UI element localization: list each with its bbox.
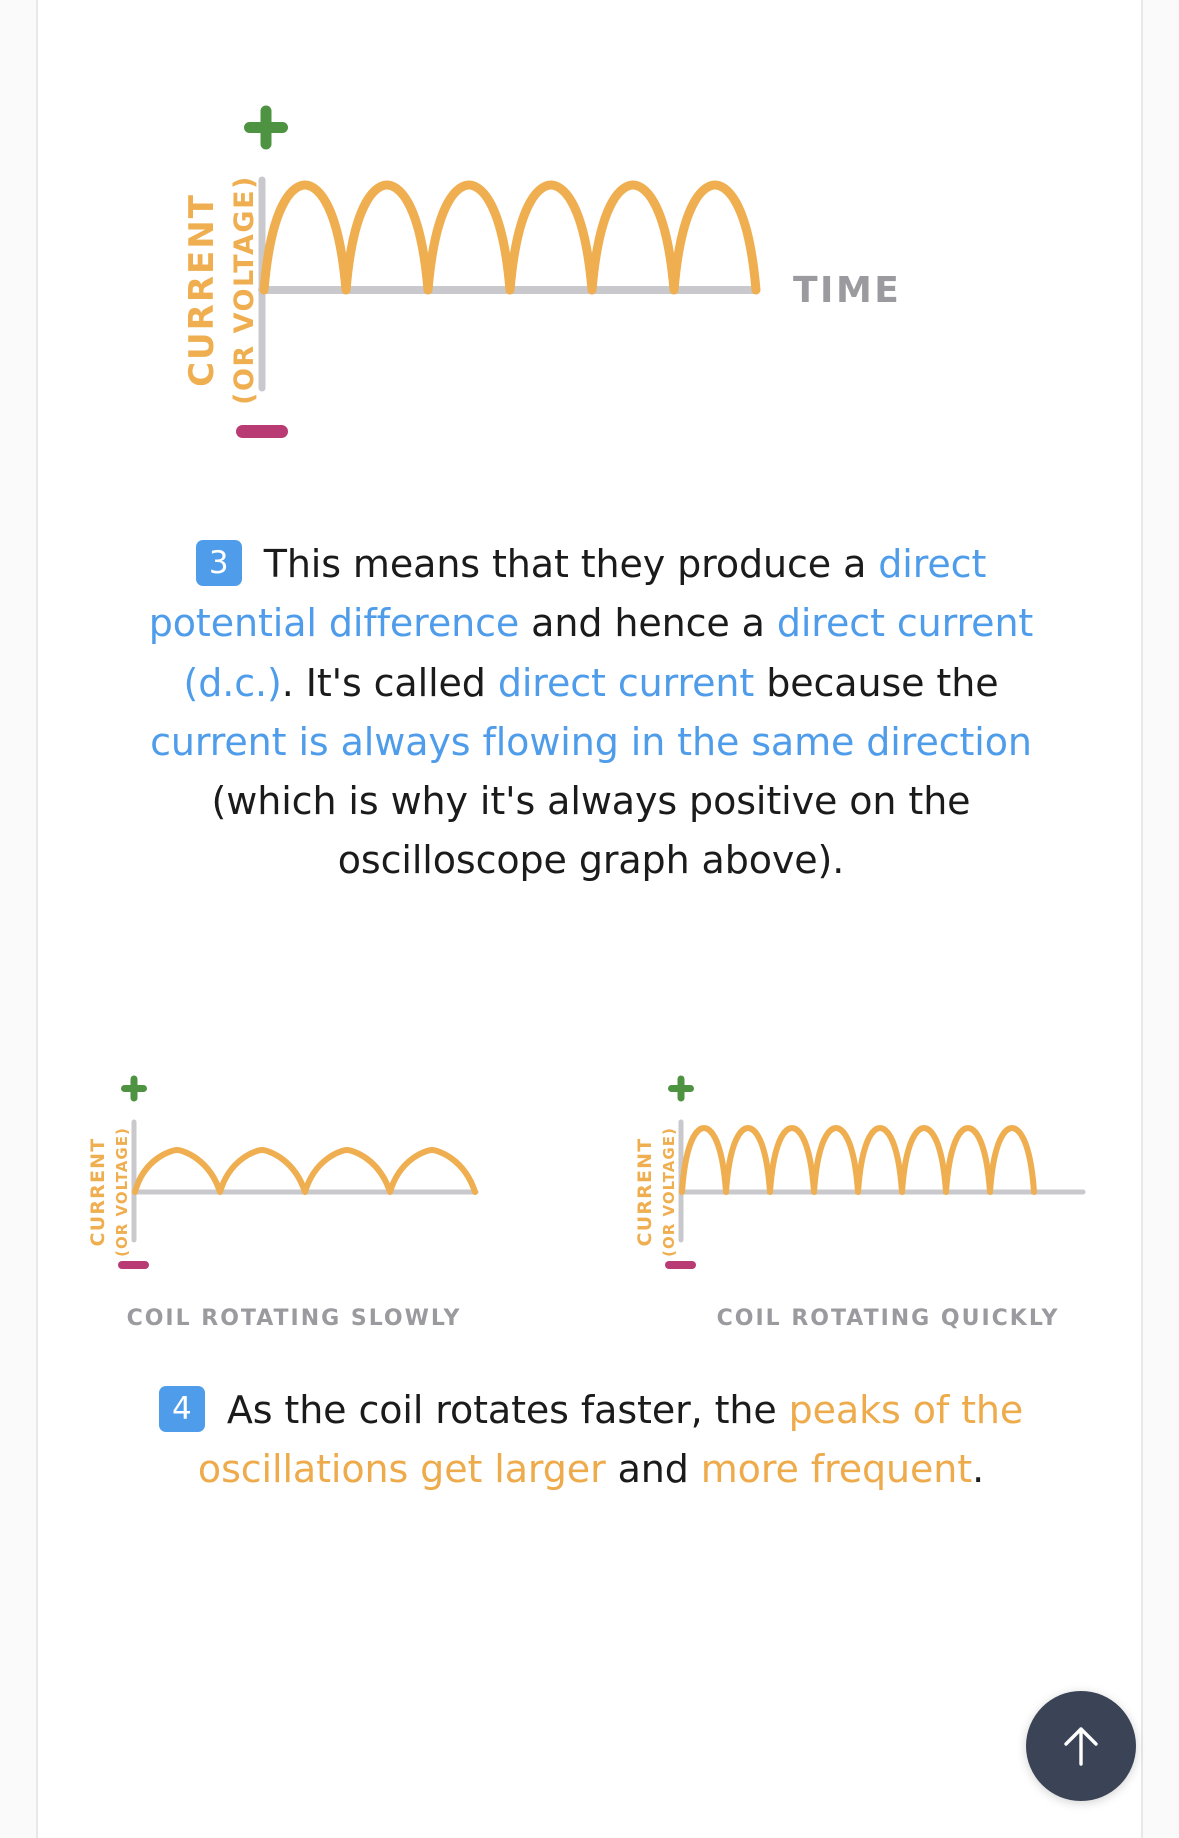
- minus-marker-icon: [665, 1261, 696, 1269]
- p4-seg-2: and: [606, 1447, 701, 1491]
- plus-marker-icon: [244, 106, 288, 150]
- p3-seg-2: and hence a: [519, 601, 777, 645]
- p3-seg-6: because the: [754, 661, 998, 705]
- p4-seg-0: As the coil rotates faster, the: [227, 1388, 789, 1432]
- p3-seg-8: (which is why it's always positive on th…: [212, 779, 971, 882]
- waveform-path: [682, 1128, 1034, 1192]
- waveform-path: [264, 185, 756, 290]
- p3-seg-7: current is always flowing in the same di…: [150, 720, 1032, 764]
- y-axis-label-current: CURRENT: [182, 193, 222, 387]
- caption-coil-rotating-quickly: COIL ROTATING QUICKLY: [717, 1306, 1060, 1331]
- p3-seg-0: This means that they produce a: [264, 542, 879, 586]
- y-axis-label-current: CURRENT: [634, 1138, 656, 1247]
- paragraph-3: 3This means that they produce a direct p…: [116, 535, 1066, 891]
- y-axis-label-or-voltage: (OR VOLTAGE): [229, 175, 260, 405]
- caption-coil-rotating-slowly: COIL ROTATING SLOWLY: [127, 1306, 462, 1331]
- y-axis-label-or-voltage: (OR VOLTAGE): [113, 1127, 131, 1257]
- scroll-to-top-button[interactable]: [1026, 1691, 1136, 1801]
- y-axis-label-or-voltage: (OR VOLTAGE): [660, 1127, 678, 1257]
- plus-marker-icon: [121, 1076, 147, 1102]
- p4-seg-3: more frequent: [701, 1447, 972, 1491]
- main-graph-svg: CURRENT (OR VOLTAGE) TIME: [38, 0, 1141, 500]
- figure-main-oscilloscope-graph: CURRENT (OR VOLTAGE) TIME: [38, 0, 1141, 500]
- minus-marker-icon: [118, 1261, 149, 1269]
- figure-coil-rotating-quickly: CURRENT (OR VOLTAGE) COIL ROTATING QUICK…: [598, 1040, 1118, 1350]
- plus-marker-icon: [668, 1076, 694, 1102]
- content-column: CURRENT (OR VOLTAGE) TIME 3This means th…: [36, 0, 1143, 1838]
- minus-marker-icon: [236, 425, 288, 438]
- p3-seg-4: . It's called: [282, 661, 498, 705]
- y-axis-label-current: CURRENT: [87, 1138, 109, 1247]
- page-root: CURRENT (OR VOLTAGE) TIME 3This means th…: [0, 0, 1179, 1838]
- paragraph-3-number-badge: 3: [196, 540, 242, 586]
- small-charts-row: CURRENT (OR VOLTAGE) COIL ROTATING SLOWL…: [38, 1040, 1141, 1350]
- paragraph-4: 4As the coil rotates faster, the peaks o…: [116, 1381, 1066, 1500]
- p3-seg-5: direct current: [498, 661, 754, 705]
- p4-seg-4: .: [972, 1447, 984, 1491]
- figure-coil-rotating-slowly: CURRENT (OR VOLTAGE) COIL ROTATING SLOWL…: [64, 1040, 584, 1350]
- arrow-up-icon: [1053, 1718, 1109, 1774]
- waveform-path: [135, 1150, 475, 1192]
- slow-graph-svg: CURRENT (OR VOLTAGE) COIL ROTATING SLOWL…: [64, 1040, 584, 1350]
- paragraph-4-number-badge: 4: [159, 1386, 205, 1432]
- quick-graph-svg: CURRENT (OR VOLTAGE) COIL ROTATING QUICK…: [598, 1040, 1138, 1350]
- x-axis-label-time: TIME: [793, 270, 901, 311]
